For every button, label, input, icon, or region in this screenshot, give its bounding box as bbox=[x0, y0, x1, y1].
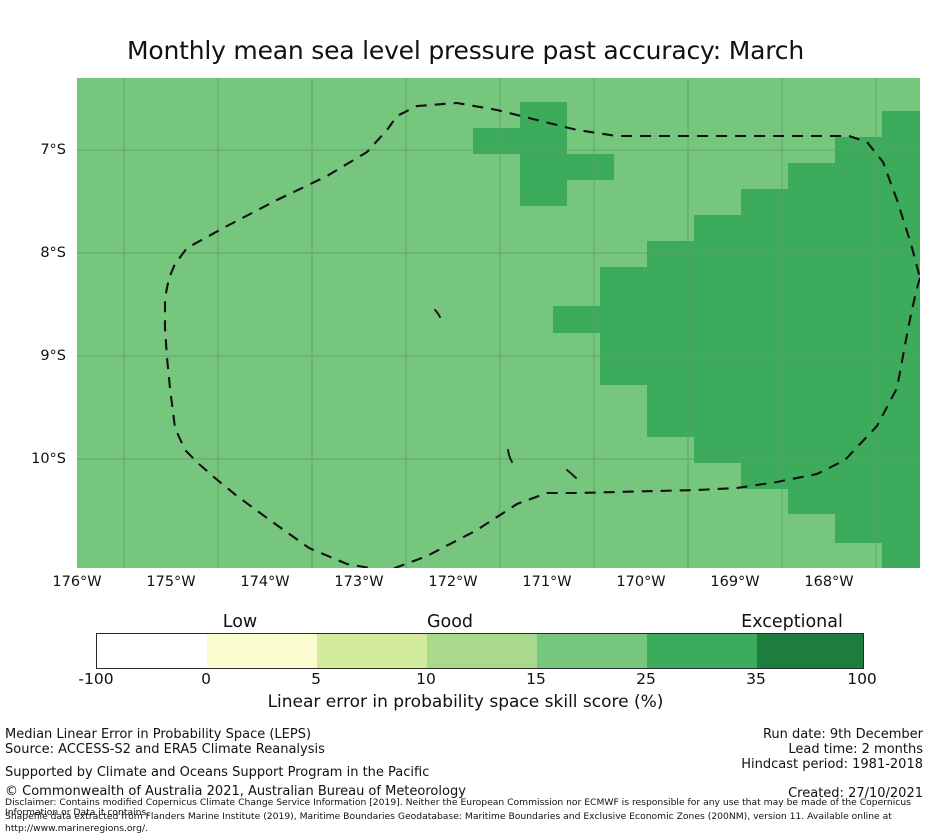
page-title: Monthly mean sea level pressure past acc… bbox=[0, 36, 931, 65]
ytick-label: 7°S bbox=[40, 142, 66, 158]
colorbar-tick: 10 bbox=[416, 670, 436, 688]
colorbar-segment bbox=[427, 634, 537, 668]
colorbar-category-low: Low bbox=[223, 612, 257, 632]
xtick-label: 175°W bbox=[146, 574, 195, 590]
colorbar-tick: 15 bbox=[526, 670, 546, 688]
colorbar-segment bbox=[97, 634, 207, 668]
colorbar-tick: 0 bbox=[201, 670, 211, 688]
ytick-label: 9°S bbox=[40, 348, 66, 364]
footer-run-date: Run date: 9th December bbox=[763, 727, 923, 742]
colorbar-segment bbox=[647, 634, 757, 668]
colorbar-axis-label: Linear error in probability space skill … bbox=[0, 692, 931, 712]
xtick-label: 176°W bbox=[52, 574, 101, 590]
colorbar-segment bbox=[317, 634, 427, 668]
colorbar-category-good: Good bbox=[427, 612, 473, 632]
xtick-label: 172°W bbox=[428, 574, 477, 590]
colorbar[interactable] bbox=[96, 633, 864, 669]
footer-disclaimer-link[interactable]: http://www.marineregions.org/. bbox=[5, 824, 148, 834]
ytick-label: 10°S bbox=[31, 451, 66, 467]
footer-source: Source: ACCESS-S2 and ERA5 Climate Reana… bbox=[5, 742, 325, 757]
colorbar-segment bbox=[757, 634, 863, 668]
xtick-label: 174°W bbox=[240, 574, 289, 590]
footer-support: Supported by Climate and Oceans Support … bbox=[5, 765, 429, 780]
colorbar-gradient bbox=[96, 633, 864, 669]
map-plot-area[interactable] bbox=[77, 78, 920, 568]
footer-lead-time: Lead time: 2 months bbox=[788, 742, 923, 757]
colorbar-segment bbox=[537, 634, 647, 668]
xtick-label: 169°W bbox=[710, 574, 759, 590]
xtick-label: 170°W bbox=[616, 574, 665, 590]
colorbar-category-exceptional: Exceptional bbox=[741, 612, 843, 632]
colorbar-tick: 35 bbox=[746, 670, 766, 688]
ytick-label: 8°S bbox=[40, 245, 66, 261]
colorbar-tick: 5 bbox=[311, 670, 321, 688]
colorbar-tick: -100 bbox=[78, 670, 113, 688]
colorbar-segment bbox=[207, 634, 317, 668]
xtick-label: 168°W bbox=[804, 574, 853, 590]
colorbar-tick: 100 bbox=[847, 670, 877, 688]
footer-disclaimer-line: Shapefile data extracted from Flanders M… bbox=[5, 812, 892, 822]
xtick-label: 171°W bbox=[522, 574, 571, 590]
footer-hindcast: Hindcast period: 1981-2018 bbox=[741, 757, 923, 772]
colorbar-tick: 25 bbox=[636, 670, 656, 688]
figure-canvas: Monthly mean sea level pressure past acc… bbox=[0, 0, 931, 839]
map-svg bbox=[77, 78, 920, 568]
xtick-label: 173°W bbox=[334, 574, 383, 590]
footer-metric-name: Median Linear Error in Probability Space… bbox=[5, 727, 311, 742]
